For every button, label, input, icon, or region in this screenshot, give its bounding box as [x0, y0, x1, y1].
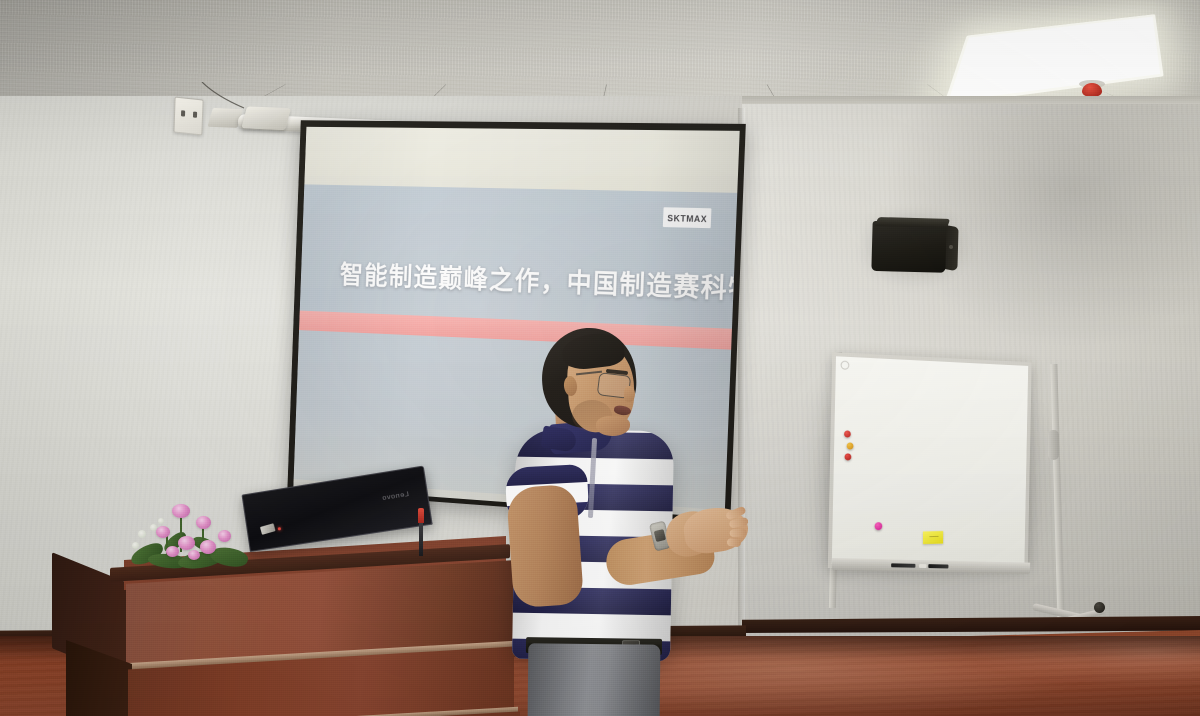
magnet-icon[interactable] [847, 442, 854, 449]
sticky-note[interactable] [923, 531, 943, 544]
magnet-icon[interactable] [844, 430, 851, 437]
whiteboard-hinge-icon [1048, 430, 1059, 460]
wall-speaker-icon [871, 217, 958, 277]
eraser-icon[interactable] [919, 564, 926, 568]
screw-icon [841, 361, 850, 370]
laptop-on-podium[interactable]: Lenovo [250, 494, 430, 566]
head [542, 328, 638, 440]
slide-brand-logo: SKTMAX [663, 207, 711, 228]
whiteboard-caster-icon [1094, 602, 1105, 613]
whiteboard-panel[interactable] [828, 352, 1032, 568]
presenter-person [498, 326, 778, 716]
slide-brand-logo-text: SKTMAX [667, 213, 707, 224]
nose [624, 386, 635, 402]
magnet-icon[interactable] [844, 453, 851, 460]
marker-icon[interactable] [891, 563, 915, 567]
red-capped-marker-icon[interactable] [416, 508, 426, 554]
marker-icon[interactable] [928, 564, 948, 568]
whiteboard-surface[interactable] [832, 356, 1028, 564]
trousers [528, 643, 661, 716]
room-photo-scene: screen SKTMAX 智能制造巅峰之作，中国制造赛科特 [0, 0, 1200, 716]
wooden-podium [50, 540, 520, 716]
upper-arm [506, 484, 584, 609]
flower-arrangement [126, 496, 256, 580]
magnet-icon[interactable] [875, 522, 883, 530]
chin [596, 416, 630, 436]
